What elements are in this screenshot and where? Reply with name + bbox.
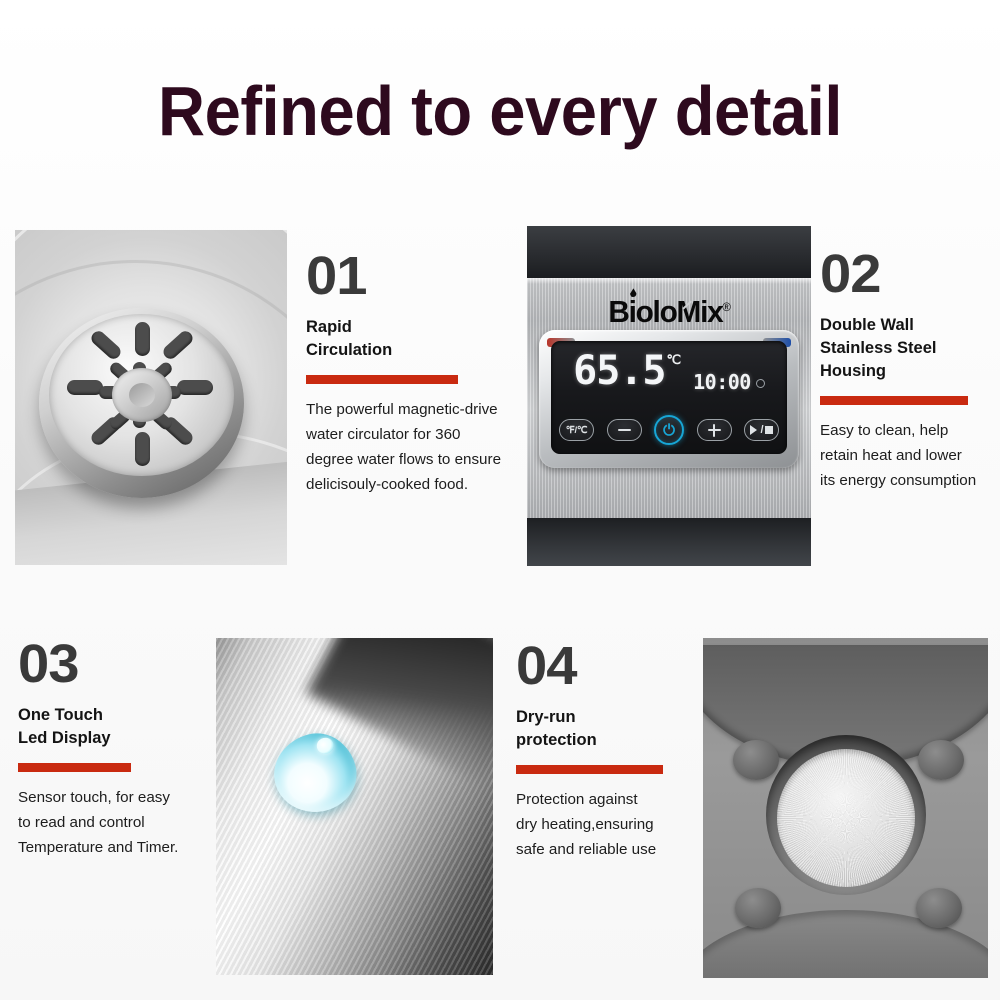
accent-bar — [18, 763, 131, 772]
impeller-housing — [39, 308, 244, 498]
feature-title: One Touch Led Display — [18, 704, 218, 750]
minus-icon — [618, 429, 631, 431]
brand-logo-text: BioloMix — [608, 294, 722, 329]
feature-number: 03 — [18, 637, 226, 691]
page-title: Refined to every detail — [35, 72, 965, 150]
start-stop-button[interactable]: / — [744, 419, 779, 441]
unit-toggle-label: ℉/℃ — [566, 425, 587, 436]
control-panel-photo: BioloMix® 65.5 ℃ 10:00 ℉/℃ — [527, 226, 811, 566]
feature-title: Dry-run protection — [516, 706, 706, 752]
accent-bar — [306, 375, 458, 384]
feature-body: The powerful magnetic-drive water circul… — [306, 397, 521, 497]
impeller-hub — [112, 368, 172, 422]
feature-number: 04 — [516, 639, 714, 693]
power-icon: ⏻ — [663, 422, 675, 439]
feature-body: Easy to clean, help retain heat and lowe… — [820, 418, 1000, 493]
slash-separator: / — [760, 424, 763, 436]
feature-title: Double Wall Stainless Steel Housing — [820, 314, 1000, 383]
feature-body: Sensor touch, for easy to read and contr… — [18, 785, 218, 860]
clock-icon — [756, 379, 765, 388]
feature-body: Protection against dry heating,ensuring … — [516, 787, 706, 862]
temperature-value: 65.5 — [573, 351, 665, 391]
brand-logo: BioloMix® — [533, 290, 806, 329]
display-bezel: 65.5 ℃ 10:00 ℉/℃ ⏻ — [539, 330, 799, 468]
accent-bar — [820, 396, 968, 405]
feature-block-03: 03 One Touch Led Display Sensor touch, f… — [18, 637, 218, 860]
cover-nub — [733, 740, 779, 780]
feature-title: Rapid Circulation — [306, 316, 521, 362]
feature-number: 02 — [820, 247, 1000, 301]
plus-button[interactable] — [697, 419, 732, 441]
feature-block-01: 01 Rapid Circulation The powerful magnet… — [306, 249, 521, 497]
feature-block-04: 04 Dry-run protection Protection against… — [516, 639, 706, 862]
display-readout: 65.5 ℃ 10:00 — [551, 351, 787, 392]
temperature-unit-label: ℃ — [667, 353, 682, 366]
led-display-screen[interactable]: 65.5 ℃ 10:00 ℉/℃ ⏻ — [551, 341, 787, 454]
housing-bottom-band — [527, 518, 811, 566]
water-droplet-photo — [216, 638, 493, 975]
plus-icon — [708, 424, 721, 437]
touch-button-row: ℉/℃ ⏻ / — [559, 415, 779, 445]
feature-block-02: 02 Double Wall Stainless Steel Housing E… — [820, 247, 1000, 493]
cover-nub — [735, 888, 781, 928]
sensor-intake-ring — [766, 735, 926, 895]
timer-value: 10:00 — [693, 372, 751, 392]
registered-mark-icon: ® — [722, 300, 729, 314]
feature-number: 01 — [306, 249, 530, 303]
magnetic-drive-circulator-photo — [15, 230, 287, 565]
stop-icon — [765, 426, 773, 434]
housing-top-band — [527, 226, 811, 278]
product-feature-infographic: Refined to every detail — [0, 0, 1000, 1000]
intake-mesh-screen — [777, 749, 915, 887]
unit-toggle-button[interactable]: ℉/℃ — [559, 419, 594, 441]
minus-button[interactable] — [607, 419, 642, 441]
power-button[interactable]: ⏻ — [654, 415, 684, 445]
cover-nub — [916, 888, 962, 928]
cover-nub — [918, 740, 964, 780]
bottom-cover-sensor-photo — [703, 638, 988, 978]
impeller-grille — [49, 314, 234, 476]
play-icon — [750, 425, 757, 435]
accent-bar — [516, 765, 663, 774]
